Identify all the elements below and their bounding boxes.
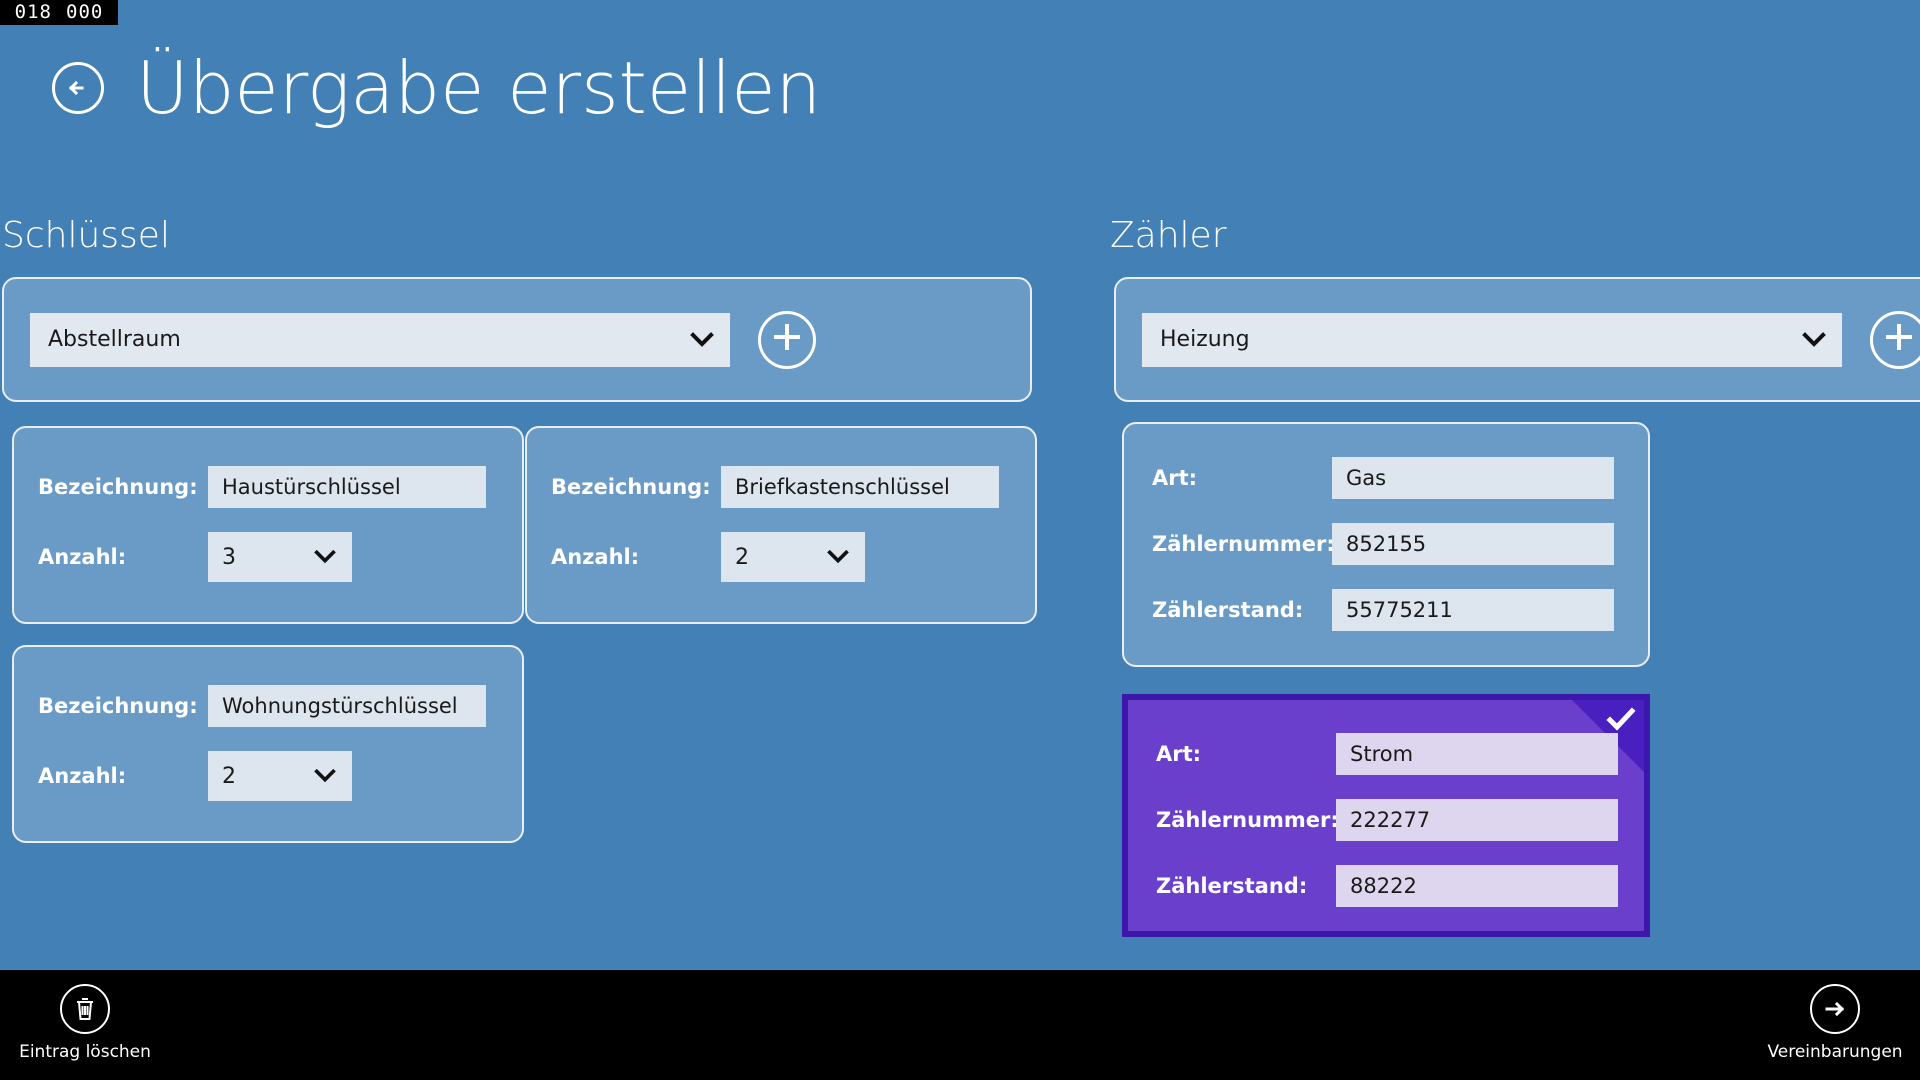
keys-room-select[interactable]: Abstellraum [30,313,730,367]
key-name-label: Bezeichnung: [38,475,208,499]
key-card[interactable]: Bezeichnung: Haustürschlüssel Anzahl: 3 [12,426,524,624]
key-count-row: Anzahl: 2 [14,751,522,801]
keys-selector-panel: Abstellraum [2,277,1032,402]
meter-reading-label: Zählerstand: [1156,874,1336,898]
status-left-value: 018 [15,0,52,25]
meters-section-heading: Zähler [1110,215,1227,256]
key-count-select[interactable]: 2 [721,532,865,582]
meter-type-row: Art: Strom [1128,733,1644,775]
meter-type-label: Art: [1152,466,1332,490]
key-name-field[interactable]: Wohnungstürschlüssel [208,685,486,727]
meter-number-field[interactable]: 222277 [1336,799,1618,841]
page-header: Übergabe erstellen [52,52,821,124]
meter-type-row: Art: Gas [1124,457,1648,499]
plus-icon [1882,320,1916,359]
key-count-row: Anzahl: 3 [14,532,522,582]
key-name-field[interactable]: Briefkastenschlüssel [721,466,999,508]
app-root: 018000 Übergabe erstellen Schlüssel Zähl… [0,0,1920,1080]
key-count-select[interactable]: 3 [208,532,352,582]
delete-entry-label: Eintrag löschen [19,1042,151,1062]
meter-reading-field[interactable]: 88222 [1336,865,1618,907]
chevron-down-icon [690,332,714,348]
chevron-down-icon [314,550,336,565]
meters-type-select-value: Heizung [1160,327,1250,352]
meters-type-select[interactable]: Heizung [1142,313,1842,367]
key-name-label: Bezeichnung: [551,475,721,499]
key-card[interactable]: Bezeichnung: Briefkastenschlüssel Anzahl… [525,426,1037,624]
key-card[interactable]: Bezeichnung: Wohnungstürschlüssel Anzahl… [12,645,524,843]
meter-number-field[interactable]: 852155 [1332,523,1614,565]
trash-icon [60,984,110,1034]
key-count-label: Anzahl: [38,545,208,569]
meter-type-label: Art: [1156,742,1336,766]
key-name-field[interactable]: Haustürschlüssel [208,466,486,508]
key-count-label: Anzahl: [551,545,721,569]
key-name-row: Bezeichnung: Haustürschlüssel [14,466,522,508]
meter-reading-row: Zählerstand: 55775211 [1124,589,1648,631]
key-name-label: Bezeichnung: [38,694,208,718]
meter-number-row: Zählernummer: 222277 [1128,799,1644,841]
arrow-right-circle-icon [1810,984,1860,1034]
meter-number-label: Zählernummer: [1152,532,1332,556]
keys-room-select-value: Abstellraum [48,327,181,352]
status-bar: 018000 [0,0,118,25]
add-key-button[interactable] [758,311,816,369]
status-right-value: 000 [66,0,103,25]
key-count-label: Anzahl: [38,764,208,788]
back-button[interactable] [52,62,104,114]
meter-card-selected[interactable]: Art: Strom Zählernummer: 222277 Zählerst… [1122,694,1650,937]
bottom-app-bar: Eintrag löschen Vereinbarungen [0,970,1920,1080]
meter-reading-field[interactable]: 55775211 [1332,589,1614,631]
key-name-row: Bezeichnung: Briefkastenschlüssel [527,466,1035,508]
chevron-down-icon [1802,332,1826,348]
chevron-down-icon [314,769,336,784]
meter-type-field[interactable]: Gas [1332,457,1614,499]
meter-reading-row: Zählerstand: 88222 [1128,865,1644,907]
key-count-row: Anzahl: 2 [527,532,1035,582]
key-count-select[interactable]: 2 [208,751,352,801]
meter-number-label: Zählernummer: [1156,808,1336,832]
key-name-row: Bezeichnung: Wohnungstürschlüssel [14,685,522,727]
meter-type-field[interactable]: Strom [1336,733,1618,775]
plus-icon [770,320,804,359]
agreements-label: Vereinbarungen [1767,1042,1902,1062]
arrow-left-circle-icon [63,73,93,103]
page-title: Übergabe erstellen [136,52,821,124]
agreements-button[interactable]: Vereinbarungen [1750,984,1920,1062]
meters-selector-panel: Heizung [1114,277,1920,402]
add-meter-button[interactable] [1870,311,1920,369]
chevron-down-icon [827,550,849,565]
keys-section-heading: Schlüssel [2,215,170,256]
meter-card[interactable]: Art: Gas Zählernummer: 852155 Zählerstan… [1122,422,1650,667]
delete-entry-button[interactable]: Eintrag löschen [0,984,170,1062]
meter-number-row: Zählernummer: 852155 [1124,523,1648,565]
meter-reading-label: Zählerstand: [1152,598,1332,622]
